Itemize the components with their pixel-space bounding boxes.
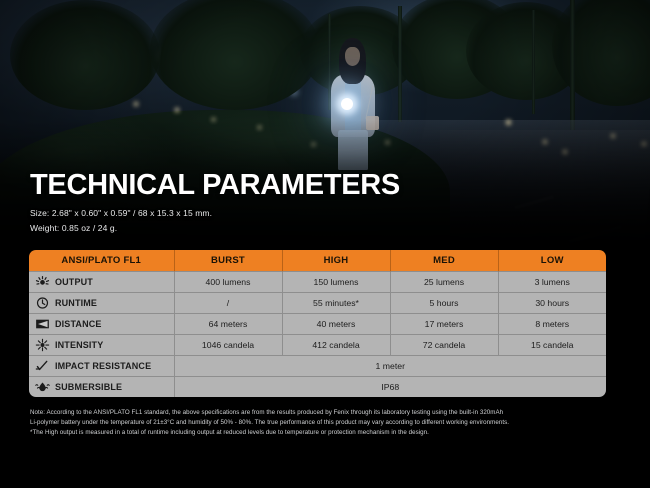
product-spec-page: TECHNICAL PARAMETERS Size: 2.68" x 0.60"…	[0, 0, 650, 488]
value-cell: 400 lumens	[174, 271, 282, 292]
value-cell-merged: IP68	[174, 376, 606, 397]
row-label-text: SUBMERSIBLE	[55, 382, 122, 392]
table-row: DISTANCE64 meters40 meters17 meters8 met…	[29, 313, 606, 334]
column-header-high: HIGH	[282, 250, 390, 271]
footnote-line-1: Note: According to the ANSI/PLATO FL1 st…	[30, 408, 624, 418]
table-row: OUTPUT400 lumens150 lumens25 lumens3 lum…	[29, 271, 606, 292]
value-cell: 3 lumens	[498, 271, 606, 292]
column-header-med: MED	[390, 250, 498, 271]
value-cell: 1046 candela	[174, 334, 282, 355]
value-cell-merged: 1 meter	[174, 355, 606, 376]
size-spec-text: Size: 2.68" x 0.60" x 0.59" / 68 x 15.3 …	[30, 208, 212, 218]
specifications-table: ANSI/PLATO FL1BURSTHIGHMEDLOW OUTPUT400 …	[29, 250, 606, 397]
row-label-cell: DISTANCE	[29, 313, 174, 334]
footnote-line-2: Li-polymer battery under the temperature…	[30, 418, 624, 428]
table-head: ANSI/PLATO FL1BURSTHIGHMEDLOW	[29, 250, 606, 271]
value-cell: 150 lumens	[282, 271, 390, 292]
row-label-cell: RUNTIME	[29, 292, 174, 313]
value-cell: 412 candela	[282, 334, 390, 355]
page-title: TECHNICAL PARAMETERS	[30, 169, 400, 202]
row-label-text: IMPACT RESISTANCE	[55, 361, 151, 371]
value-cell: 72 candela	[390, 334, 498, 355]
light-output-icon	[35, 275, 50, 289]
clock-icon	[35, 296, 50, 310]
row-label-cell: IMPACT RESISTANCE	[29, 355, 174, 376]
peak-intensity-icon	[35, 338, 50, 352]
value-cell: 55 minutes*	[282, 292, 390, 313]
value-cell: 15 candela	[498, 334, 606, 355]
impact-resistance-icon	[35, 359, 50, 373]
row-label-text: RUNTIME	[55, 298, 97, 308]
value-cell: /	[174, 292, 282, 313]
value-cell: 8 meters	[498, 313, 606, 334]
table-row: IMPACT RESISTANCE1 meter	[29, 355, 606, 376]
spec-table: ANSI/PLATO FL1BURSTHIGHMEDLOW OUTPUT400 …	[29, 250, 606, 397]
value-cell: 40 meters	[282, 313, 390, 334]
table-row: INTENSITY1046 candela412 candela72 cande…	[29, 334, 606, 355]
table-body: OUTPUT400 lumens150 lumens25 lumens3 lum…	[29, 271, 606, 397]
row-label-cell: INTENSITY	[29, 334, 174, 355]
table-header-row: ANSI/PLATO FL1BURSTHIGHMEDLOW	[29, 250, 606, 271]
footnote-line-3: *The High output is measured in a total …	[30, 428, 624, 438]
row-label-cell: OUTPUT	[29, 271, 174, 292]
row-label-text: OUTPUT	[55, 277, 93, 287]
row-label-cell: SUBMERSIBLE	[29, 376, 174, 397]
row-label-text: DISTANCE	[55, 319, 102, 329]
value-cell: 25 lumens	[390, 271, 498, 292]
beam-distance-icon	[35, 317, 50, 331]
value-cell: 5 hours	[390, 292, 498, 313]
column-header-burst: BURST	[174, 250, 282, 271]
table-row: RUNTIME/55 minutes*5 hours30 hours	[29, 292, 606, 313]
column-header-ansi-plato-fl1: ANSI/PLATO FL1	[29, 250, 174, 271]
water-droplet-icon	[35, 380, 50, 394]
table-row: SUBMERSIBLEIP68	[29, 376, 606, 397]
value-cell: 64 meters	[174, 313, 282, 334]
value-cell: 30 hours	[498, 292, 606, 313]
column-header-low: LOW	[498, 250, 606, 271]
weight-spec-text: Weight: 0.85 oz / 24 g.	[30, 223, 117, 233]
footnote-block: Note: According to the ANSI/PLATO FL1 st…	[30, 408, 624, 438]
row-label-text: INTENSITY	[55, 340, 103, 350]
value-cell: 17 meters	[390, 313, 498, 334]
